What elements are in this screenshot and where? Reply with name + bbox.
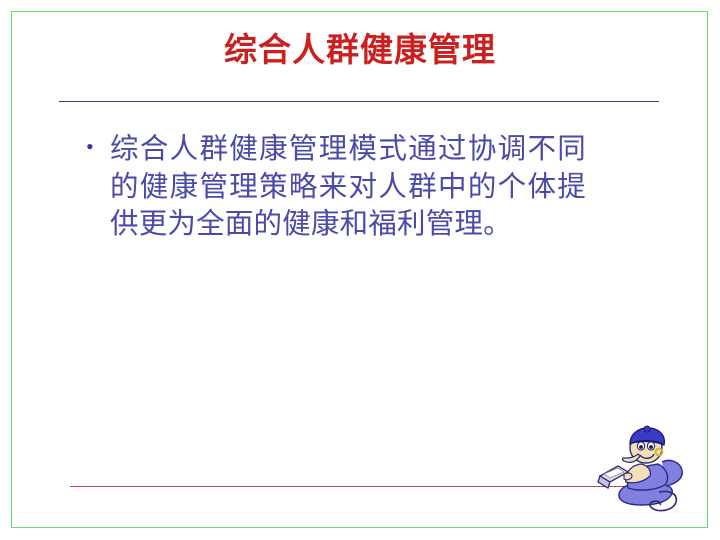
presentation-slide: 综合人群健康管理 • 综合人群健康管理模式通过协调不同的健康管理策略来对人群中的… xyxy=(0,0,720,540)
slide-body: • 综合人群健康管理模式通过协调不同的健康管理策略来对人群中的个体提供更为全面的… xyxy=(86,131,586,244)
footer-divider-line xyxy=(70,486,648,487)
title-divider-line xyxy=(59,101,659,102)
bullet-point-icon: • xyxy=(86,131,110,162)
list-item: • 综合人群健康管理模式通过协调不同的健康管理策略来对人群中的个体提供更为全面的… xyxy=(86,131,586,244)
bullet-item-label: 综合人群健康管理模式通过协调不同的健康管理策略来对人群中的个体提供更为全面的健康… xyxy=(110,131,586,244)
page-title: 综合人群健康管理 xyxy=(0,31,720,72)
genie-with-laptop-icon xyxy=(596,424,692,516)
